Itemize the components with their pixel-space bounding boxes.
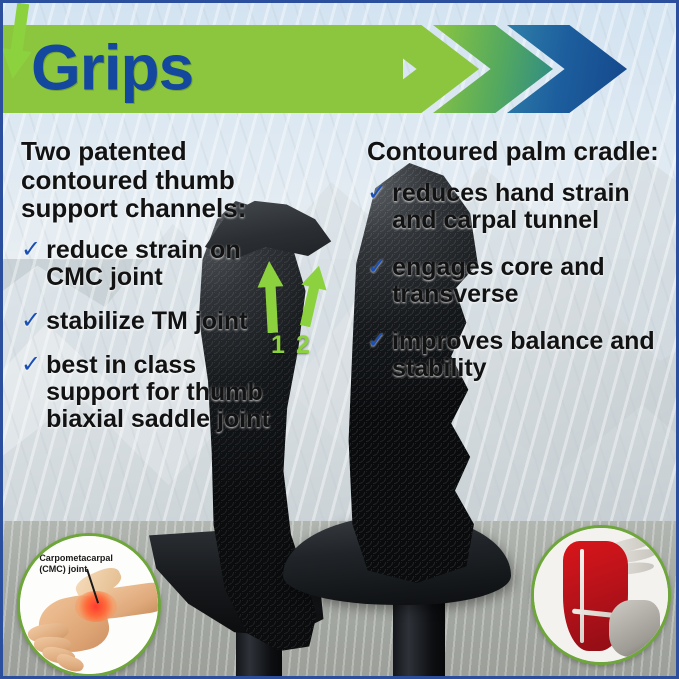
left-text-column: Two patented contoured thumb support cha…	[21, 137, 271, 450]
down-arrow-icon	[0, 1, 38, 80]
core-anatomy-illustration	[534, 528, 668, 662]
finger-shape	[54, 651, 85, 674]
list-item: ✓ best in class support for thumb biaxia…	[21, 352, 271, 433]
cmc-inset-label: Carpometacarpal (CMC) joint	[39, 553, 138, 576]
check-icon: ✓	[21, 308, 41, 333]
bullet-text: reduce strain on CMC joint	[46, 237, 271, 291]
right-bullet-list: ✓ reduces hand strain and carpal tunnel …	[367, 180, 667, 382]
bullet-text: reduces hand strain and carpal tunnel	[392, 180, 667, 234]
core-muscle-inset	[531, 525, 671, 665]
bullet-text: improves balance and stability	[392, 328, 667, 382]
bullet-text: best in class support for thumb biaxial …	[46, 352, 271, 433]
check-icon: ✓	[21, 237, 41, 262]
check-icon: ✓	[367, 328, 387, 353]
list-item: ✓ reduce strain on CMC joint	[21, 237, 271, 291]
pole-shaft-right	[393, 603, 445, 679]
left-bullet-list: ✓ reduce strain on CMC joint ✓ stabilize…	[21, 237, 271, 433]
pelvis-shape	[609, 600, 660, 656]
hand-anatomy-illustration: Carpometacarpal (CMC) joint	[20, 536, 158, 674]
channel-number-2: 2	[296, 331, 310, 360]
right-headline: Contoured palm cradle:	[367, 137, 667, 166]
check-icon: ✓	[21, 352, 41, 377]
infographic-page: Grips 1 2 Two patented contoured thumb s…	[0, 0, 679, 679]
channel-number-1: 1	[271, 331, 285, 360]
list-item: ✓ reduces hand strain and carpal tunnel	[367, 180, 667, 234]
right-text-column: Contoured palm cradle: ✓ reduces hand st…	[367, 137, 667, 402]
bullet-text: engages core and transverse	[392, 254, 667, 308]
bullet-text: stabilize TM joint	[46, 308, 247, 335]
check-icon: ✓	[367, 254, 387, 279]
list-item: ✓ engages core and transverse	[367, 254, 667, 308]
list-item: ✓ stabilize TM joint	[21, 308, 271, 335]
cmc-joint-inset: Carpometacarpal (CMC) joint	[17, 533, 161, 677]
tendon-vertical	[580, 549, 584, 643]
list-item: ✓ improves balance and stability	[367, 328, 667, 382]
left-headline: Two patented contoured thumb support cha…	[21, 137, 271, 223]
check-icon: ✓	[367, 180, 387, 205]
